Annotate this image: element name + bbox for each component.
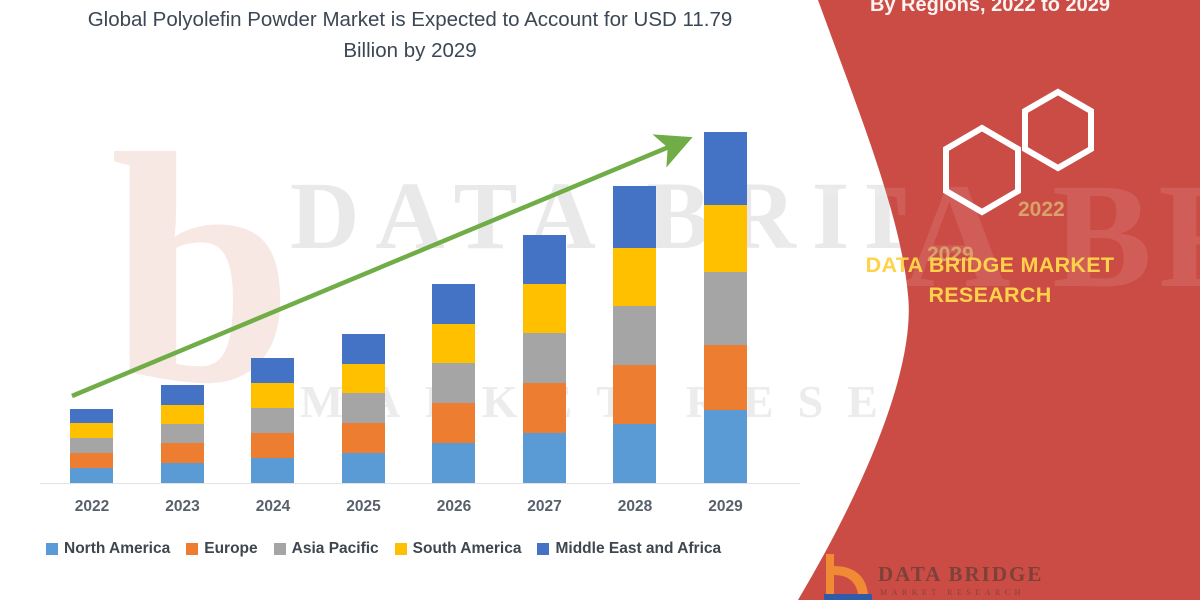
- chart-plot-area: 20222023202420252026202720282029 North A…: [0, 0, 820, 600]
- x-axis-labels: 20222023202420252026202720282029: [0, 498, 820, 522]
- bar-segment: [432, 443, 475, 483]
- legend-swatch-icon: [46, 543, 58, 555]
- x-axis-label-2028: 2028: [605, 498, 665, 516]
- x-axis-label-2026: 2026: [424, 498, 484, 516]
- legend-label: South America: [413, 540, 522, 558]
- x-axis-label-2025: 2025: [334, 498, 394, 516]
- panel-title: By Regions, 2022 to 2029: [780, 0, 1200, 17]
- bar-segment: [523, 383, 566, 433]
- bar-segment: [432, 284, 475, 324]
- footer-logo-subtext: MARKET RESEARCH: [880, 588, 1025, 597]
- bar-segment: [70, 409, 113, 423]
- legend-label: Asia Pacific: [292, 540, 379, 558]
- infographic-canvas: b DATA BRIDGE MARKET RESEARCH Global Pol…: [0, 0, 1200, 600]
- legend-label: North America: [64, 540, 170, 558]
- bar-segment: [161, 443, 204, 463]
- bar-segment: [251, 433, 294, 458]
- bar-segment: [523, 333, 566, 383]
- hex-label-2022: 2022: [1018, 198, 1065, 222]
- hexagon-badges: 2022 2029: [890, 80, 1120, 230]
- x-axis-label-2023: 2023: [153, 498, 213, 516]
- footer-logo-text: DATA BRIDGE: [878, 562, 1043, 587]
- bar-segment: [342, 334, 385, 364]
- bar-segment: [613, 424, 656, 483]
- bar-segment: [251, 458, 294, 483]
- bar-segment: [704, 132, 747, 205]
- bar-segment: [342, 364, 385, 393]
- bar-segment: [704, 345, 747, 410]
- bar-segment: [161, 463, 204, 483]
- bar-2028[interactable]: [613, 186, 656, 483]
- legend-item[interactable]: Middle East and Africa: [537, 540, 721, 558]
- bar-segment: [70, 468, 113, 483]
- bar-segment: [432, 363, 475, 403]
- legend-item[interactable]: Europe: [186, 540, 257, 558]
- bar-segment: [342, 453, 385, 483]
- bar-segment: [70, 453, 113, 468]
- legend-swatch-icon: [186, 543, 198, 555]
- bar-segment: [342, 423, 385, 453]
- bar-2025[interactable]: [342, 334, 385, 483]
- bar-segment: [523, 433, 566, 483]
- bar-segment: [161, 424, 204, 443]
- legend-item[interactable]: North America: [46, 540, 170, 558]
- bar-segment: [161, 405, 204, 424]
- legend-swatch-icon: [537, 543, 549, 555]
- x-axis-label-2024: 2024: [243, 498, 303, 516]
- bar-segment: [704, 205, 747, 272]
- legend-label: Middle East and Africa: [555, 540, 721, 558]
- bar-2029[interactable]: [704, 132, 747, 483]
- bar-segment: [70, 423, 113, 438]
- bar-segment: [523, 284, 566, 333]
- right-red-panel: DATA BRIDGE By Regions, 2022 to 2029 202…: [780, 0, 1200, 600]
- x-axis-label-2022: 2022: [62, 498, 122, 516]
- legend-label: Europe: [204, 540, 257, 558]
- bar-segment: [251, 408, 294, 433]
- chart-legend: North AmericaEuropeAsia PacificSouth Ame…: [46, 540, 806, 558]
- brand-line-2: RESEARCH: [780, 280, 1200, 310]
- bar-segment: [613, 306, 656, 365]
- bar-segment: [704, 410, 747, 483]
- x-axis-label-2027: 2027: [515, 498, 575, 516]
- bar-segment: [161, 385, 204, 405]
- brand-line-1: DATA BRIDGE MARKET: [780, 250, 1200, 280]
- bridge-logo-icon: [820, 548, 880, 600]
- bar-2027[interactable]: [523, 235, 566, 483]
- footer-logo: DATA BRIDGE MARKET RESEARCH: [820, 548, 1120, 600]
- bar-segment: [613, 365, 656, 424]
- bar-segment: [523, 235, 566, 284]
- x-axis-label-2029: 2029: [696, 498, 756, 516]
- brand-name: DATA BRIDGE MARKET RESEARCH: [780, 250, 1200, 310]
- bar-segment: [613, 186, 656, 248]
- bar-segment: [251, 383, 294, 408]
- bar-segment: [432, 324, 475, 363]
- bar-2026[interactable]: [432, 284, 475, 483]
- bar-2024[interactable]: [251, 358, 294, 483]
- bar-segment: [704, 272, 747, 345]
- bar-segment: [613, 248, 656, 306]
- legend-swatch-icon: [274, 543, 286, 555]
- bar-segment: [342, 393, 385, 423]
- legend-item[interactable]: Asia Pacific: [274, 540, 379, 558]
- bar-2023[interactable]: [161, 385, 204, 483]
- bar-segment: [251, 358, 294, 383]
- bar-segment: [70, 438, 113, 453]
- hexagon-outline-icon: [890, 80, 1120, 230]
- bar-2022[interactable]: [70, 409, 113, 483]
- bar-segment: [432, 403, 475, 443]
- x-axis-line: [40, 483, 800, 484]
- legend-item[interactable]: South America: [395, 540, 522, 558]
- legend-swatch-icon: [395, 543, 407, 555]
